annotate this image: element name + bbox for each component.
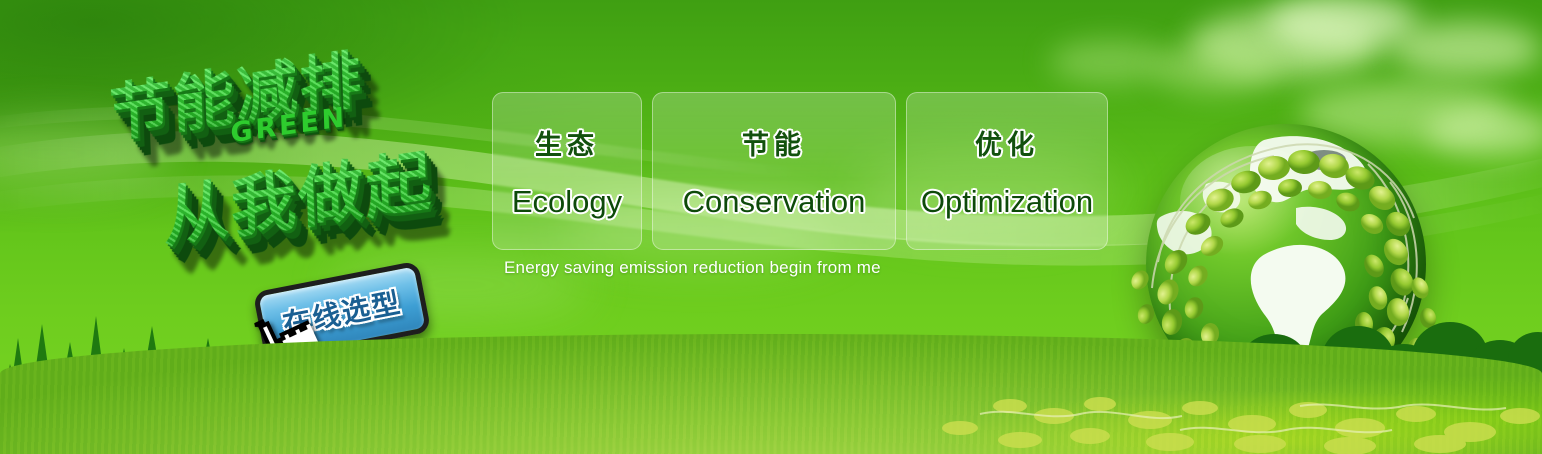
cloud-icon [1050, 40, 1170, 84]
online-selection-button-label: 在线选型 [279, 281, 404, 343]
grass-texture [0, 334, 1542, 454]
cloud-icon [1155, 44, 1275, 94]
slogan-line-bottom: 从我做起 [162, 127, 435, 261]
feature-card-title-en: Ecology [512, 184, 622, 220]
slogan-text-bottom: 从我做起 [162, 127, 435, 261]
feature-card-list: 生态 Ecology 节能 Conservation 优化 Optimizati… [492, 92, 1108, 250]
feature-card-title-cn: 生态 [535, 123, 599, 162]
cloud-icon [1268, 0, 1418, 50]
feature-card-ecology[interactable]: 生态 Ecology [492, 92, 642, 250]
feature-card-title-cn: 优化 [975, 123, 1039, 162]
feature-card-title-en: Conservation [683, 184, 866, 220]
slogan-artwork: 节能减排 GREEN 从我做起 [98, 38, 478, 266]
promo-banner: 节能减排 GREEN 从我做起 在线选型 生态 Ecology 节能 Conse… [0, 0, 1542, 454]
globe-specular-highlight [1180, 146, 1326, 258]
feature-card-title-cn: 节能 [742, 123, 806, 162]
feature-card-title-en: Optimization [921, 184, 1093, 220]
feature-card-optimization[interactable]: 优化 Optimization [906, 92, 1108, 250]
feature-card-conservation[interactable]: 节能 Conservation [652, 92, 896, 250]
cloud-icon [1190, 10, 1380, 78]
cloud-icon [1392, 22, 1542, 76]
banner-tagline: Energy saving emission reduction begin f… [504, 258, 881, 278]
